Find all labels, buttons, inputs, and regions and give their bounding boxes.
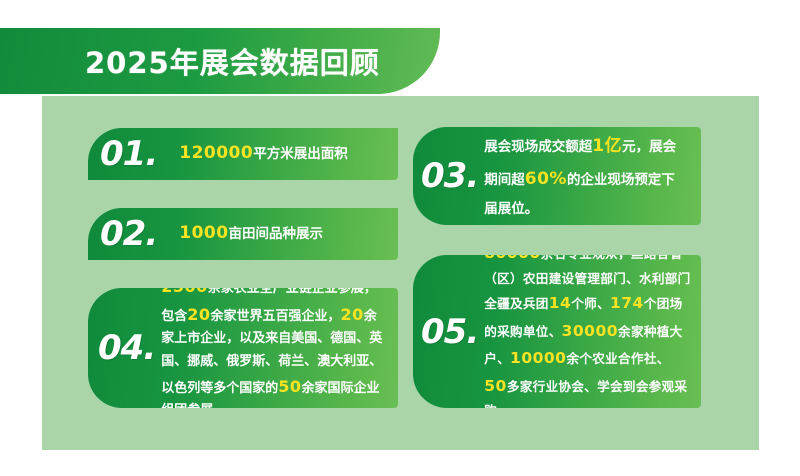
stat-highlight-value: 2500 (161, 288, 208, 296)
stat-highlight-value: 50 (484, 377, 507, 395)
stat-highlight-value: 30000 (562, 322, 618, 340)
stat-highlight-value: 10000 (510, 349, 566, 367)
stat-card-index: 05. (421, 315, 478, 349)
stat-card-text: 展会现场成交额超1亿元，展会期间超60%的企业现场预定下届展位。 (484, 130, 687, 223)
stat-card-text: 120000平方米展出面积 (179, 139, 388, 169)
stat-highlight-value: 60% (525, 169, 567, 189)
stat-card-index: 03. (421, 159, 478, 193)
stat-card-03: 03. 展会现场成交额超1亿元，展会期间超60%的企业现场预定下届展位。 (413, 127, 701, 225)
stat-card-text: 1000亩田间品种展示 (179, 219, 388, 249)
stat-card-index: 02. (100, 217, 157, 251)
stat-text-run: 展会现场成交额超 (484, 139, 592, 155)
stat-text-run: 亩田间品种展示 (229, 226, 324, 242)
stat-card-index: 04. (98, 331, 155, 365)
stat-text-run: 个师、 (571, 296, 610, 311)
stat-card-text: 80000余名专业观众，丝路各省（区）农田建设管理部门、水利部门全疆及兵团14个… (484, 255, 691, 408)
stat-card-02: 02. 1000亩田间品种展示 (88, 208, 398, 260)
stat-highlight-value: 20 (341, 305, 364, 324)
stat-highlight-value: 1000 (179, 223, 228, 243)
stat-highlight-value: 50 (278, 377, 301, 396)
stat-text-run: 多家行业协会、学会到会参观采购。 (484, 379, 687, 408)
stat-highlight-value: 1亿 (592, 136, 622, 156)
stat-highlight-value: 80000 (484, 255, 540, 262)
stat-card-text: 2500余家农业全产业链企业参展，包含20余家世界五百强企业，20余家上市企业，… (161, 288, 384, 408)
stat-highlight-value: 20 (187, 305, 210, 324)
stat-card-05: 05. 80000余名专业观众，丝路各省（区）农田建设管理部门、水利部门全疆及兵… (413, 255, 701, 408)
page-title: 2025年展会数据回顾 (85, 40, 380, 82)
stat-highlight-value: 14 (549, 294, 572, 312)
stat-highlight-value: 174 (610, 294, 644, 312)
stat-text-run: 余个农业合作社、 (566, 351, 669, 366)
stat-text-run: 余家世界五百强企业， (211, 309, 341, 324)
infographic-canvas: 2025年展会数据回顾 01. 120000平方米展出面积 02. 1000亩田… (0, 0, 800, 476)
stat-text-run: 平方米展出面积 (253, 146, 348, 162)
stat-card-index: 01. (100, 137, 157, 171)
stat-card-04: 04. 2500余家农业全产业链企业参展，包含20余家世界五百强企业，20余家上… (88, 288, 398, 408)
stat-card-01: 01. 120000平方米展出面积 (88, 128, 398, 180)
stat-highlight-value: 120000 (179, 143, 253, 163)
title-banner: 2025年展会数据回顾 (0, 28, 440, 94)
